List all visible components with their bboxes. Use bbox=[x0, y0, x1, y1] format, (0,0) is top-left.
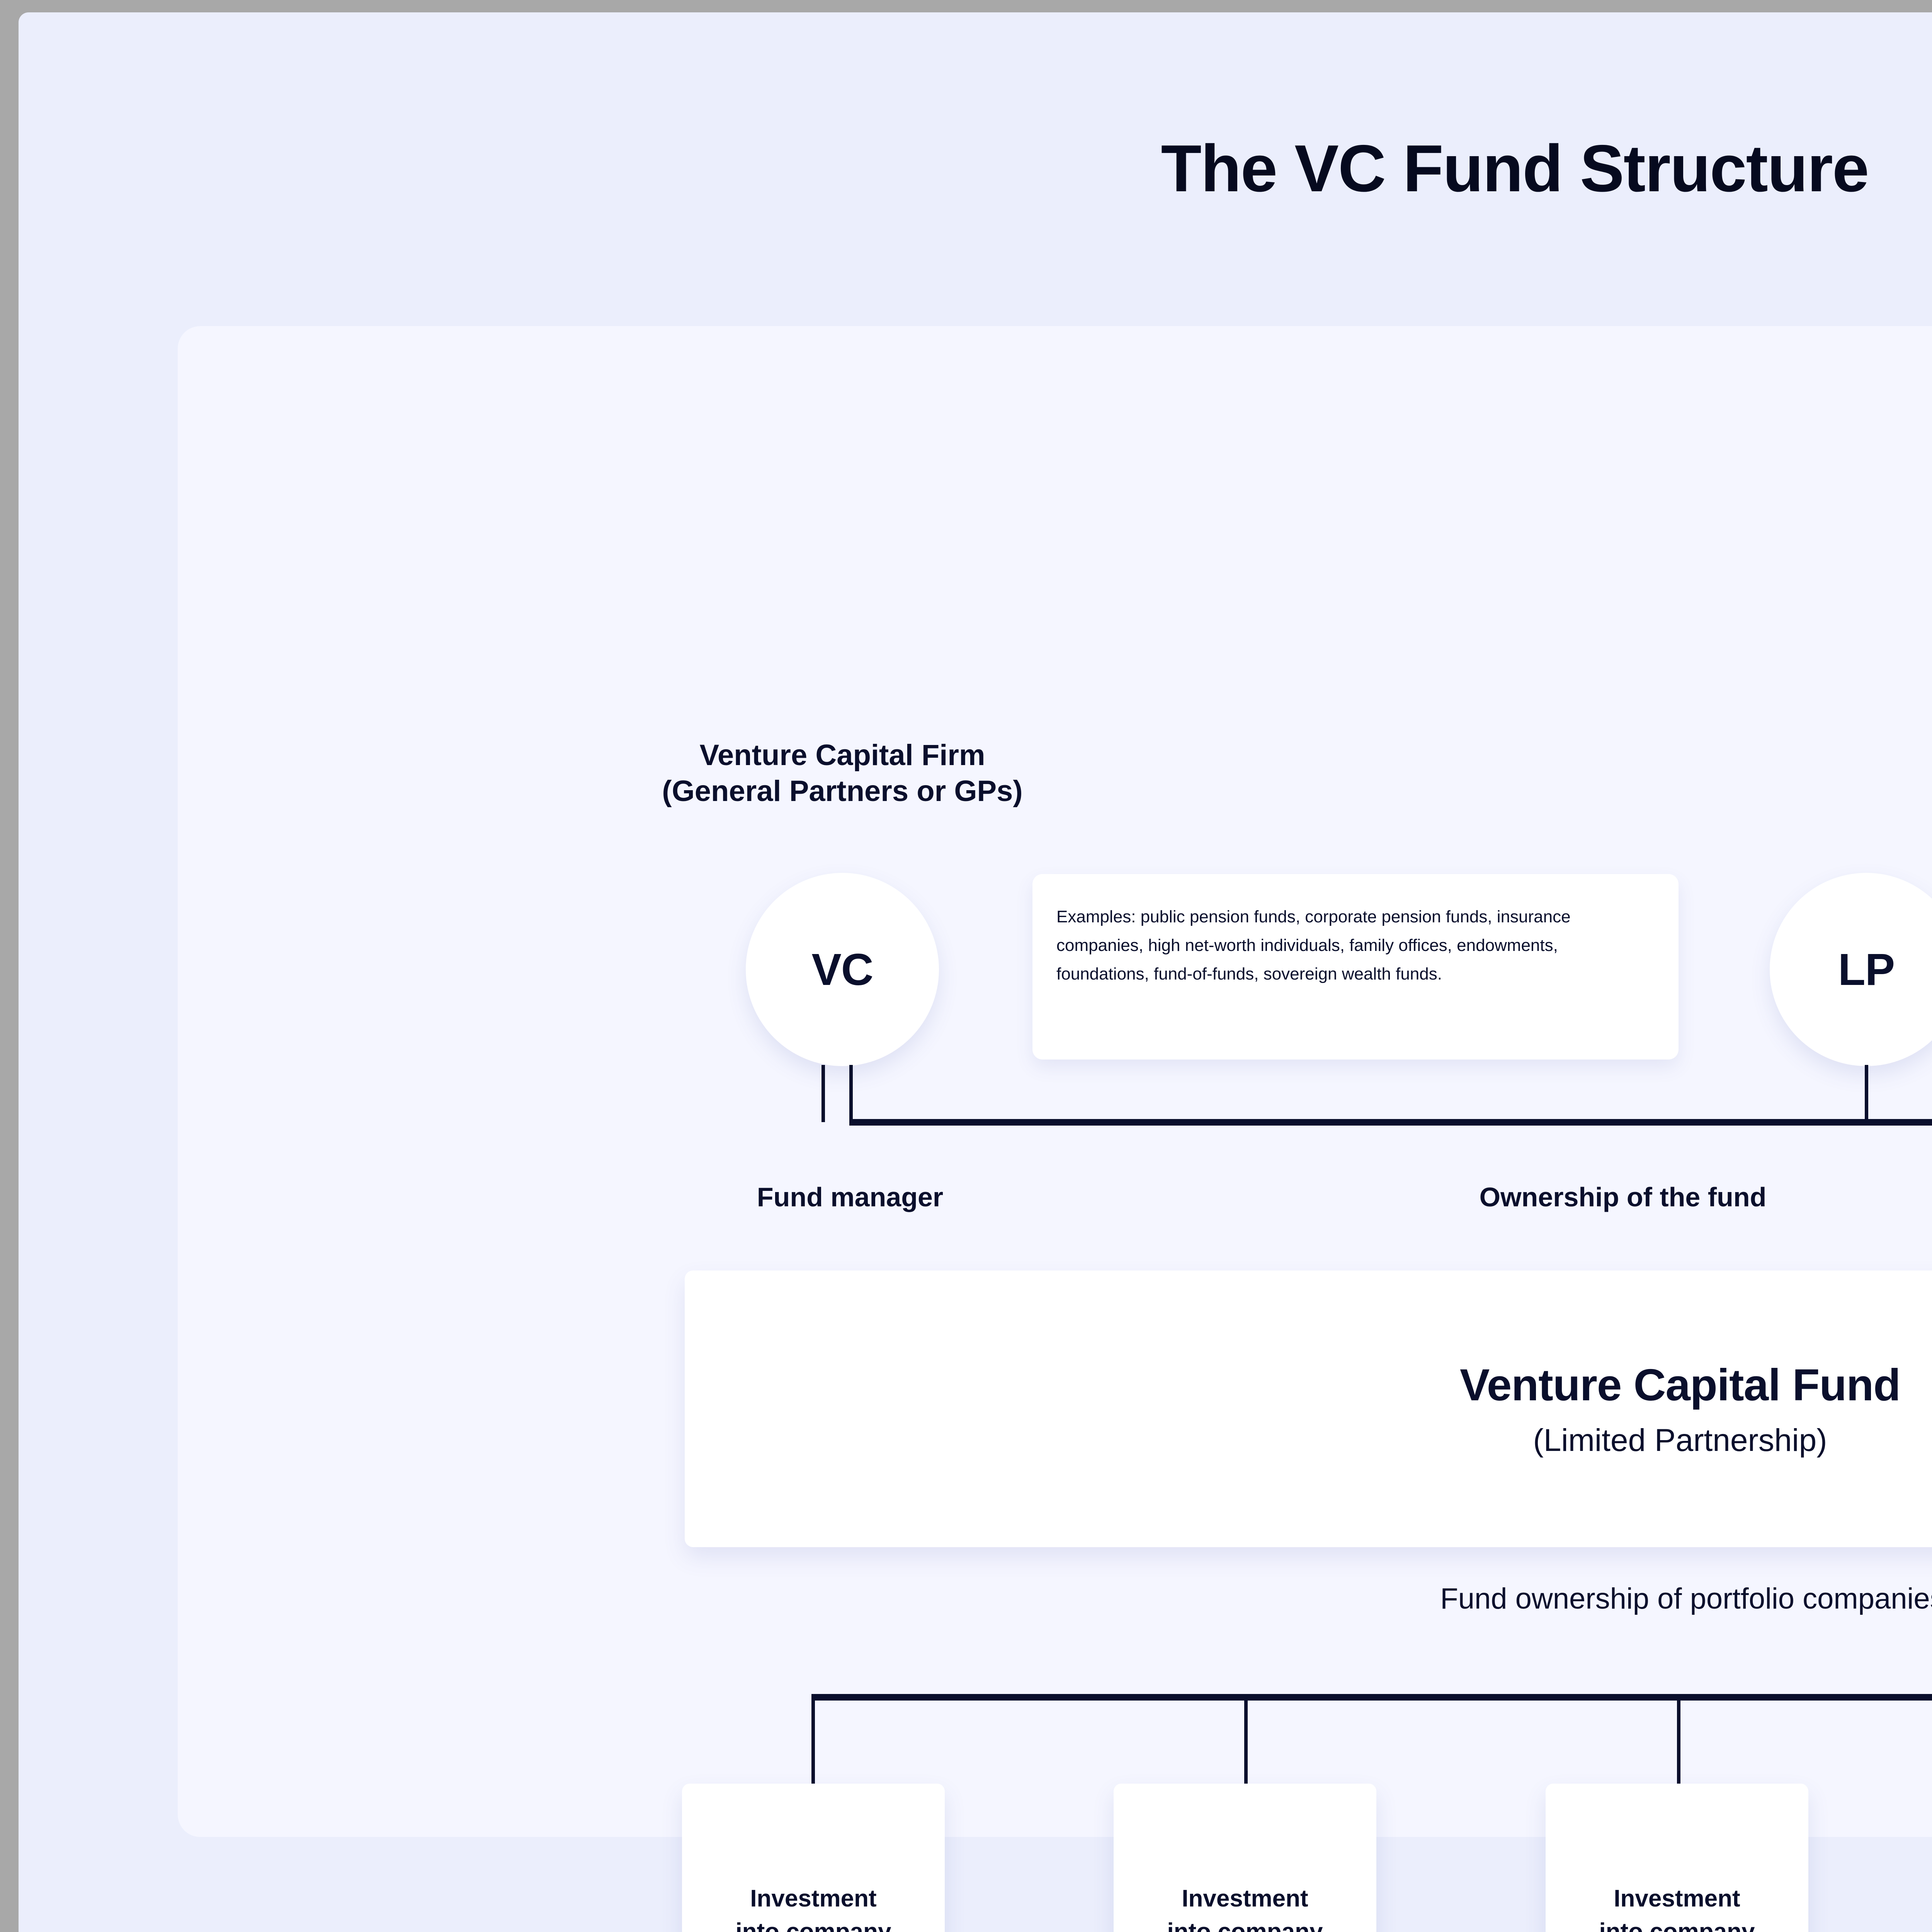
portfolio-ownership-label: Fund ownership of portfolio companies bbox=[1151, 1582, 1932, 1616]
vc-node[interactable]: VC bbox=[746, 873, 939, 1066]
lp-node[interactable]: LP bbox=[1770, 873, 1932, 1066]
examples-tooltip: Examples: public pension funds, corporat… bbox=[1032, 874, 1679, 1060]
connector-portfolio-drop bbox=[811, 1697, 815, 1786]
investment-box[interactable]: Investment into company bbox=[1114, 1784, 1376, 1932]
fund-box-title: Venture Capital Fund bbox=[1460, 1359, 1900, 1411]
connector-portfolio-bus bbox=[811, 1694, 1932, 1701]
page-title: The VC Fund Structure bbox=[19, 128, 1932, 209]
app-frame: The VC Fund Structure Venture Capital Fi… bbox=[19, 12, 1932, 1932]
investment-box[interactable]: Investment into company bbox=[1546, 1784, 1808, 1932]
investment-box[interactable]: Investment into company bbox=[682, 1784, 945, 1932]
fund-manager-label: Fund manager bbox=[641, 1181, 1059, 1214]
lp-group-label: Limited Partners (LPs, Investors) bbox=[1696, 783, 1932, 819]
examples-tooltip-text: Examples: public pension funds, corporat… bbox=[1056, 903, 1655, 988]
connector-portfolio-drop bbox=[1677, 1697, 1680, 1786]
fund-box-subtitle: (Limited Partnership) bbox=[1533, 1422, 1827, 1459]
ownership-of-fund-label: Ownership of the fund bbox=[1267, 1181, 1932, 1214]
diagram-panel: Venture Capital Firm (General Partners o… bbox=[178, 326, 1932, 1837]
venture-capital-fund-box[interactable]: Venture Capital Fund (Limited Partnershi… bbox=[685, 1270, 1932, 1547]
vc-group-label: Venture Capital Firm (General Partners o… bbox=[502, 738, 1182, 809]
connector-vc-stub bbox=[821, 1065, 825, 1122]
connector-ownership-bus bbox=[849, 1119, 1932, 1126]
connector-vc-to-bus bbox=[849, 1065, 853, 1122]
connector-lp-to-bus bbox=[1865, 1065, 1868, 1122]
connector-portfolio-drop bbox=[1244, 1697, 1248, 1786]
